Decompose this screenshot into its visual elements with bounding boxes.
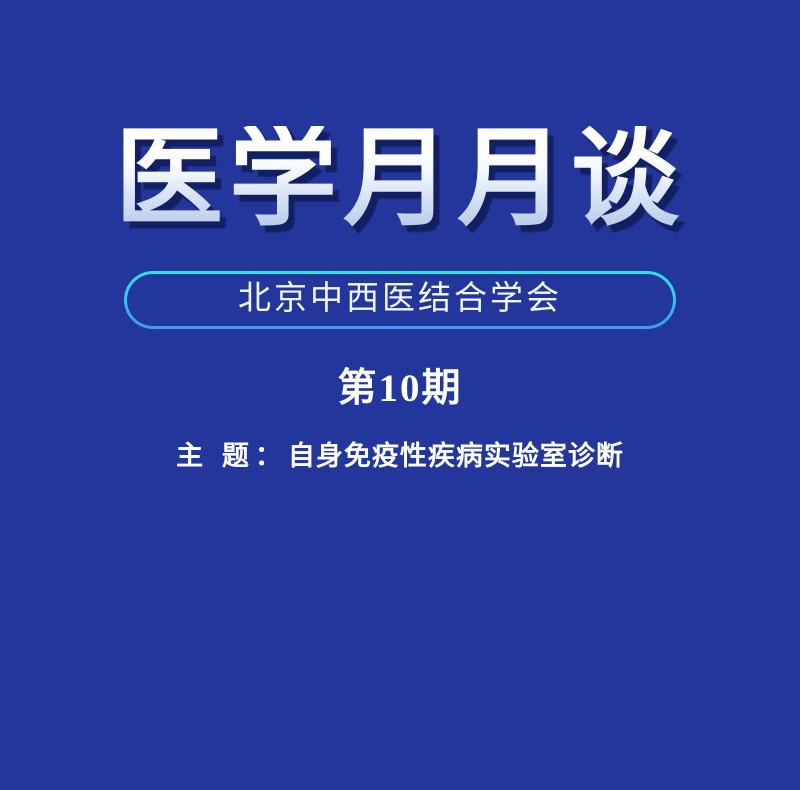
topic-value: 自身免疫性疾病实验室诊断 [288,441,624,471]
topic-line: 主 题：自身免疫性疾病实验室诊断 [0,440,800,472]
main-title-text: 医学月月谈 [0,126,800,234]
organization-label: 北京中西医结合学会 [238,283,562,316]
main-title: 医学月月谈 医学月月谈 [0,126,800,234]
poster-canvas: 医学月月谈 医学月月谈 北京中西医结合学会 第10期 主 题：自身免疫性疾病实验… [0,0,800,790]
organization-pill-inner: 北京中西医结合学会 [127,274,673,326]
issue-number: 第10期 [0,369,800,408]
topic-prefix: 主 题： [176,441,288,471]
organization-pill: 北京中西医结合学会 [124,271,676,329]
